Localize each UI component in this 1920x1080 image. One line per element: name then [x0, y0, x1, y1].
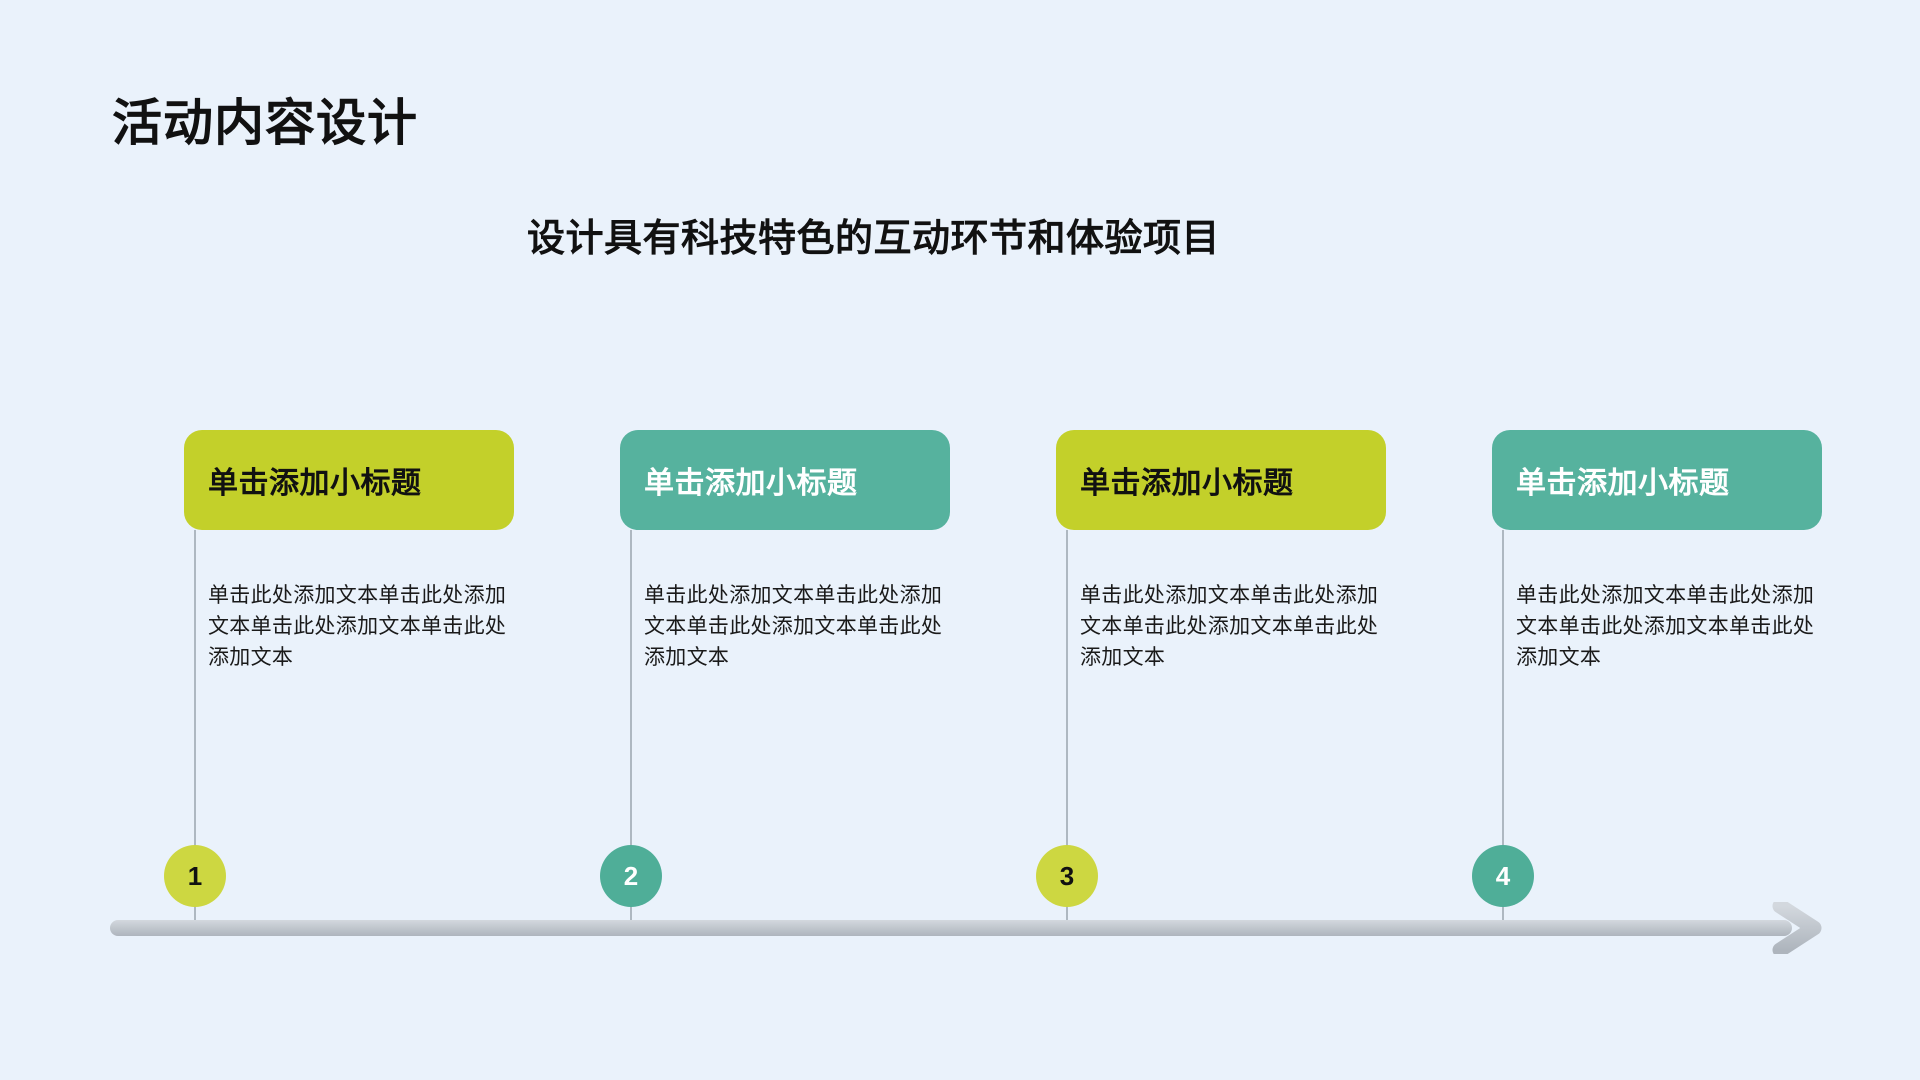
timeline-column-2: 单击添加小标题单击此处添加文本单击此处添加文本单击此处添加文本单击此处添加文本2	[620, 430, 950, 530]
timeline-column-3: 单击添加小标题单击此处添加文本单击此处添加文本单击此处添加文本单击此处添加文本3	[1056, 430, 1386, 530]
timeline-axis-bar	[110, 920, 1792, 936]
card-header-label: 单击添加小标题	[1516, 458, 1730, 502]
card-header-2[interactable]: 单击添加小标题	[620, 430, 950, 530]
step-number-circle-4[interactable]: 4	[1472, 845, 1534, 907]
slide-canvas: 活动内容设计 设计具有科技特色的互动环节和体验项目 单击添加小标题单击此处添加文…	[0, 0, 1920, 1080]
card-body-text-3[interactable]: 单击此处添加文本单击此处添加文本单击此处添加文本单击此处添加文本	[1080, 580, 1380, 673]
card-header-1[interactable]: 单击添加小标题	[184, 430, 514, 530]
card-body-text-4[interactable]: 单击此处添加文本单击此处添加文本单击此处添加文本单击此处添加文本	[1516, 580, 1816, 673]
timeline-column-1: 单击添加小标题单击此处添加文本单击此处添加文本单击此处添加文本单击此处添加文本1	[184, 430, 514, 530]
card-body-text-1[interactable]: 单击此处添加文本单击此处添加文本单击此处添加文本单击此处添加文本	[208, 580, 508, 673]
step-number-circle-2[interactable]: 2	[600, 845, 662, 907]
step-number-circle-1[interactable]: 1	[164, 845, 226, 907]
card-header-label: 单击添加小标题	[644, 458, 858, 502]
card-header-label: 单击添加小标题	[1080, 458, 1294, 502]
step-number-circle-3[interactable]: 3	[1036, 845, 1098, 907]
timeline-axis	[110, 920, 1792, 936]
card-header-3[interactable]: 单击添加小标题	[1056, 430, 1386, 530]
page-subtitle: 设计具有科技特色的互动环节和体验项目	[527, 207, 1220, 262]
card-header-label: 单击添加小标题	[208, 458, 422, 502]
timeline-column-4: 单击添加小标题单击此处添加文本单击此处添加文本单击此处添加文本单击此处添加文本4	[1492, 430, 1822, 530]
page-title: 活动内容设计	[112, 83, 418, 155]
card-body-text-2[interactable]: 单击此处添加文本单击此处添加文本单击此处添加文本单击此处添加文本	[644, 580, 944, 673]
card-header-4[interactable]: 单击添加小标题	[1492, 430, 1822, 530]
arrow-right-icon	[1770, 902, 1842, 954]
